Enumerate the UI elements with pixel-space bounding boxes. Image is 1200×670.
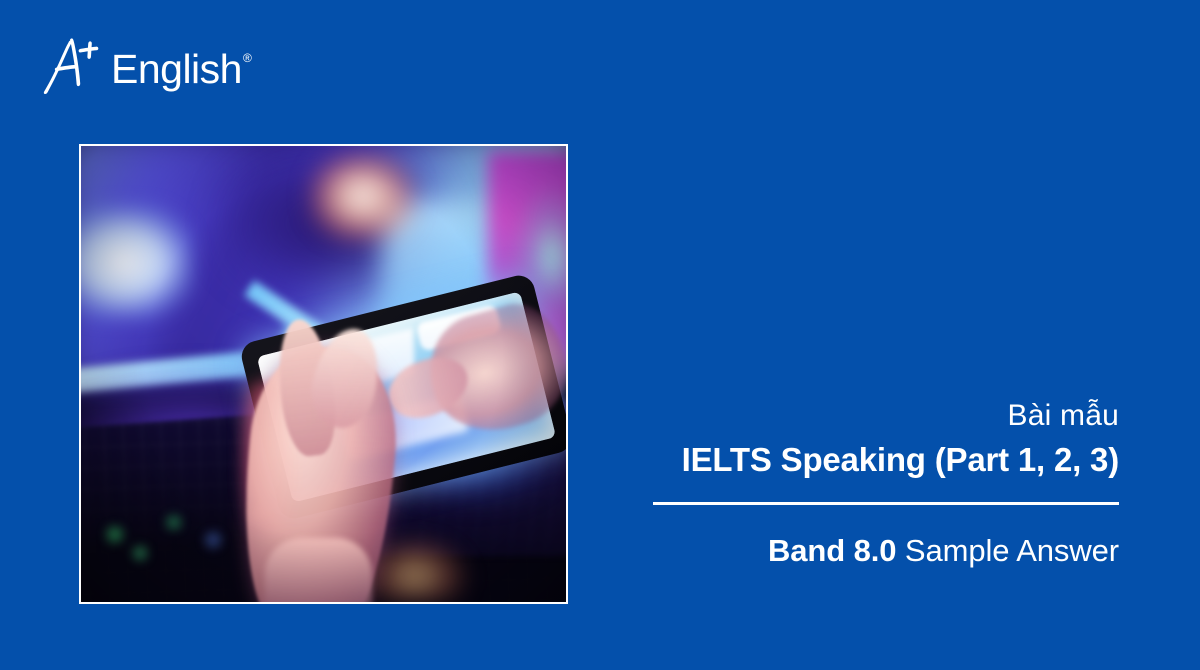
- brand-wordmark-text: English: [111, 46, 242, 92]
- promo-banner: English®: [0, 0, 1200, 670]
- promo-headline: IELTS Speaking (Part 1, 2, 3): [653, 440, 1119, 480]
- promo-subline: Band 8.0 Sample Answer: [653, 532, 1119, 569]
- promo-divider: [653, 502, 1119, 505]
- hero-photo: [81, 146, 566, 602]
- promo-text-block: Bài mẫu IELTS Speaking (Part 1, 2, 3) Ba…: [653, 398, 1119, 569]
- promo-kicker: Bài mẫu: [653, 398, 1119, 434]
- photo-vignette: [81, 146, 566, 602]
- brand-wordmark: English®: [111, 45, 250, 90]
- registered-trademark-icon: ®: [243, 51, 251, 65]
- hero-photo-frame: [79, 144, 568, 604]
- promo-subline-rest: Sample Answer: [905, 533, 1119, 568]
- promo-subline-band: Band 8.0: [768, 533, 896, 568]
- brand-logo[interactable]: English®: [38, 36, 250, 98]
- a-plus-brush-mark-icon: [38, 38, 100, 96]
